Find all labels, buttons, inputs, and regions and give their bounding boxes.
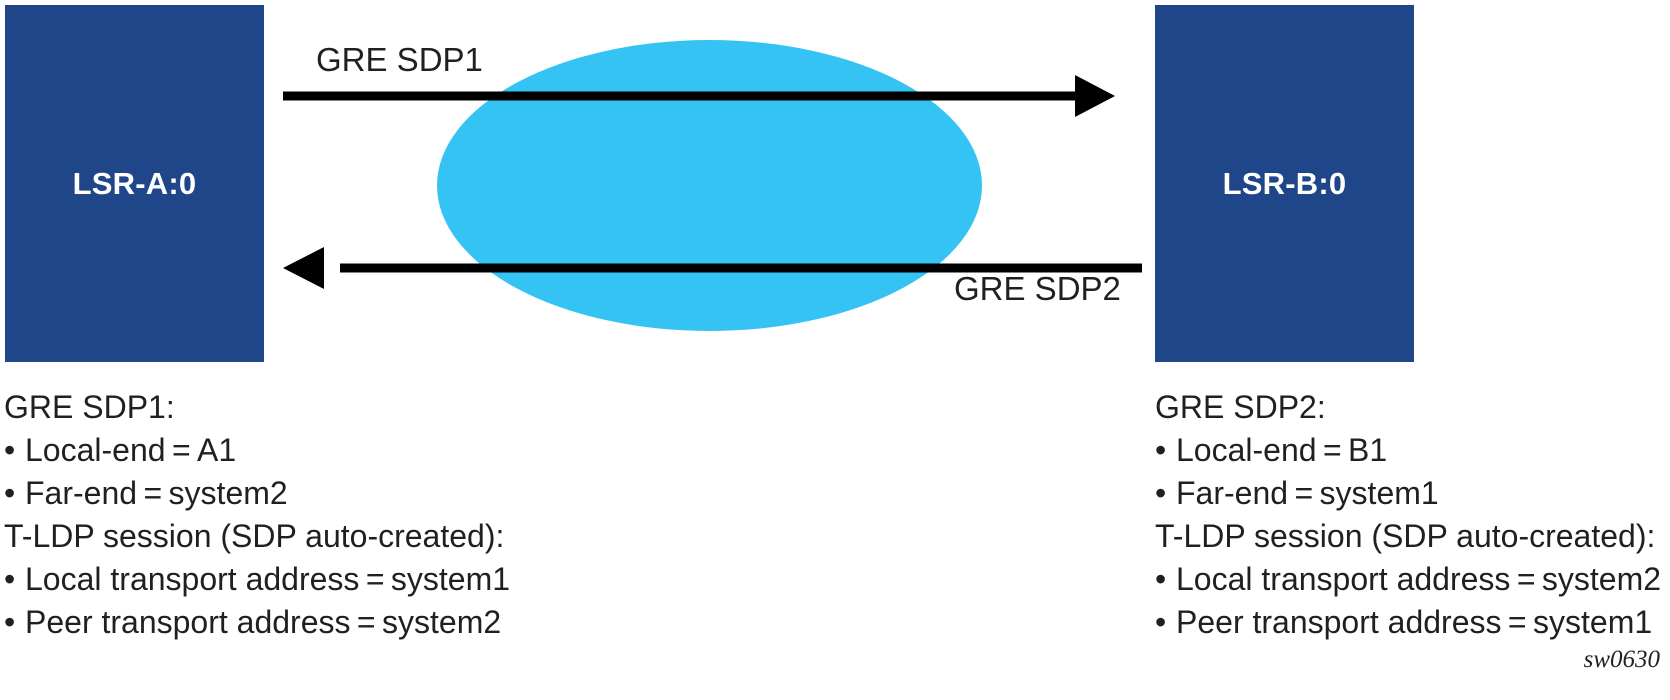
desc-right-bullet-far-end: Far-end = system1 — [1155, 472, 1661, 515]
desc-left-heading: GRE SDP1: — [4, 386, 510, 429]
desc-right-heading: GRE SDP2: — [1155, 386, 1661, 429]
desc-left-subheading: T-LDP session (SDP auto-created): — [4, 515, 510, 558]
node-lsr-b-label: LSR-B:0 — [1223, 168, 1347, 199]
desc-left-bullet-local-transport: Local transport address = system1 — [4, 558, 510, 601]
desc-right-subheading: T-LDP session (SDP auto-created): — [1155, 515, 1661, 558]
figure-id: sw0630 — [1584, 646, 1660, 674]
link-label-gre-sdp2: GRE SDP2 — [954, 272, 1121, 305]
node-lsr-a-label: LSR-A:0 — [73, 168, 197, 199]
desc-left-bullet-peer-transport: Peer transport address = system2 — [4, 601, 510, 644]
desc-right-bullet-local-end: Local-end = B1 — [1155, 429, 1661, 472]
description-block-left: GRE SDP1: Local-end = A1 Far-end = syste… — [4, 386, 510, 644]
diagram-canvas: LSR-A:0 LSR-B:0 GRE SDP1 GRE SDP2 GRE SD… — [0, 0, 1670, 700]
desc-left-bullet-far-end: Far-end = system2 — [4, 472, 510, 515]
desc-right-bullet-local-transport: Local transport address = system2 — [1155, 558, 1661, 601]
desc-left-bullet-local-end: Local-end = A1 — [4, 429, 510, 472]
node-lsr-a: LSR-A:0 — [5, 5, 264, 362]
desc-right-bullet-peer-transport: Peer transport address = system1 — [1155, 601, 1661, 644]
link-label-gre-sdp1: GRE SDP1 — [316, 43, 483, 76]
arrow-gre-sdp1 — [280, 76, 1120, 118]
description-block-right: GRE SDP2: Local-end = B1 Far-end = syste… — [1155, 386, 1661, 644]
node-lsr-b: LSR-B:0 — [1155, 5, 1414, 362]
